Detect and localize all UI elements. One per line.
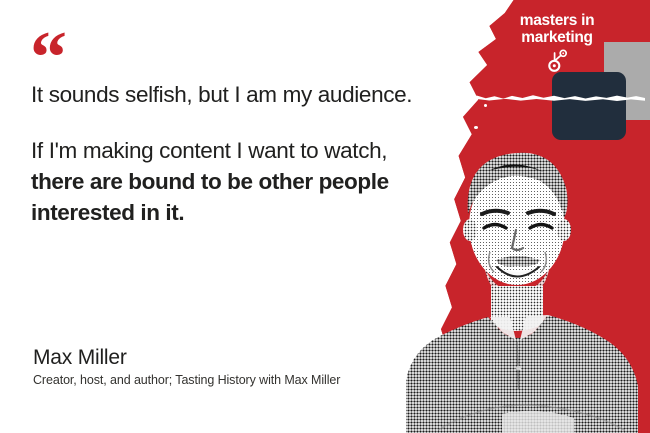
hubspot-sprocket-icon [497, 49, 617, 73]
torn-fleck [471, 18, 475, 21]
torn-fleck [477, 62, 480, 65]
attribution-name: Max Miller [33, 345, 340, 370]
torn-fleck [466, 47, 469, 51]
quote-paragraph-2-bold: there are bound to be other people inter… [31, 169, 389, 225]
attribution-role: Creator, host, and author; Tasting Histo… [33, 372, 340, 388]
torn-fleck [462, 80, 466, 83]
quote-paragraph-2-regular: If I'm making content I want to watch, [31, 138, 387, 163]
attribution: Max Miller Creator, host, and author; Ta… [33, 345, 340, 388]
brand-logo: masters in marketing [497, 12, 617, 73]
quote-paragraph-1: It sounds selfish, but I am my audience. [31, 79, 441, 110]
quote-card: masters in marketing [0, 0, 650, 433]
brand-line-1: masters in [497, 12, 617, 29]
torn-fleck [484, 104, 487, 107]
quote-paragraph-2: If I'm making content I want to watch, t… [31, 135, 441, 228]
brand-line-2: marketing [497, 29, 617, 46]
quote-text: It sounds selfish, but I am my audience.… [31, 79, 441, 228]
portrait-photo [398, 118, 650, 433]
